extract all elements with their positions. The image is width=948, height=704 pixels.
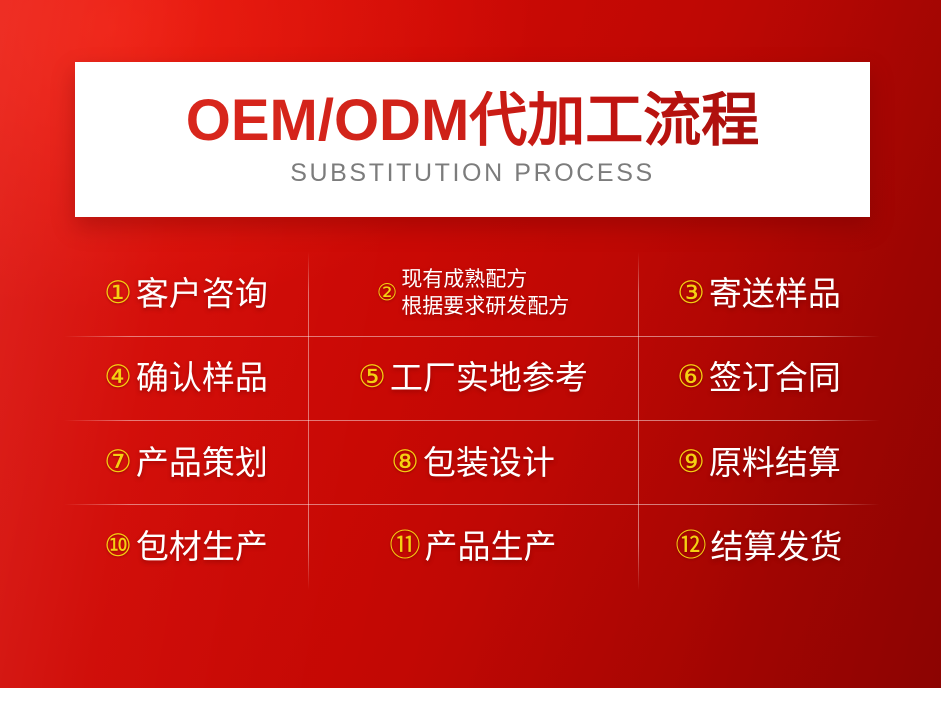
step-label-5: 工厂实地参考 bbox=[390, 361, 588, 396]
step-number-badge-4: ④ bbox=[104, 362, 132, 393]
step-label-9: 原料结算 bbox=[709, 446, 841, 481]
step-number-badge-1: ① bbox=[104, 278, 132, 309]
step-label-10: 包材生产 bbox=[136, 530, 268, 565]
step-number-badge-2: ② bbox=[377, 282, 398, 305]
step-number-badge-7: ⑦ bbox=[104, 447, 132, 478]
process-step-3: ③ 寄送样品 bbox=[638, 252, 880, 337]
process-step-4: ④ 确认样品 bbox=[64, 337, 308, 422]
promotional-poster: OEM/ODM代加工流程 SUBSTITUTION PROCESS ① 客户咨询… bbox=[0, 0, 948, 704]
step-label-6: 签订合同 bbox=[709, 361, 841, 396]
bottom-white-margin bbox=[0, 688, 948, 704]
process-step-1: ① 客户咨询 bbox=[64, 252, 308, 337]
step-label-1: 客户咨询 bbox=[136, 277, 268, 312]
process-step-12: ⑫ 结算发货 bbox=[638, 506, 880, 591]
step-label-11: 产品生产 bbox=[425, 530, 557, 565]
process-step-10: ⑩ 包材生产 bbox=[64, 506, 308, 591]
step-number-badge-12: ⑫ bbox=[676, 531, 707, 562]
step-label-2-line-1: 现有成熟配方 bbox=[401, 267, 569, 294]
step-number-badge-9: ⑨ bbox=[677, 447, 705, 478]
step-number-badge-11: ⑪ bbox=[390, 531, 421, 562]
process-step-6: ⑥ 签订合同 bbox=[638, 337, 880, 422]
process-step-2: ② 现有成熟配方 根据要求研发配方 bbox=[308, 252, 638, 337]
process-step-11: ⑪ 产品生产 bbox=[308, 506, 638, 591]
step-label-12: 结算发货 bbox=[711, 530, 843, 565]
process-step-5: ⑤ 工厂实地参考 bbox=[308, 337, 638, 422]
process-step-7: ⑦ 产品策划 bbox=[64, 421, 308, 506]
step-label-3: 寄送样品 bbox=[709, 277, 841, 312]
step-number-badge-3: ③ bbox=[677, 278, 705, 309]
step-label-2: 现有成熟配方 根据要求研发配方 bbox=[401, 267, 569, 321]
step-number-badge-6: ⑥ bbox=[677, 362, 705, 393]
process-steps-grid: ① 客户咨询 ② 现有成熟配方 根据要求研发配方 ③ 寄送样品 ④ 确认样品 bbox=[64, 252, 880, 590]
process-step-9: ⑨ 原料结算 bbox=[638, 421, 880, 506]
step-number-badge-8: ⑧ bbox=[391, 447, 419, 478]
title-card: OEM/ODM代加工流程 SUBSTITUTION PROCESS bbox=[75, 62, 870, 217]
process-step-8: ⑧ 包装设计 bbox=[308, 421, 638, 506]
step-label-7: 产品策划 bbox=[136, 446, 268, 481]
page-subtitle: SUBSTITUTION PROCESS bbox=[290, 159, 655, 188]
right-white-margin bbox=[941, 0, 948, 704]
step-number-badge-5: ⑤ bbox=[358, 362, 386, 393]
step-label-4: 确认样品 bbox=[136, 361, 268, 396]
step-number-badge-10: ⑩ bbox=[104, 531, 132, 562]
step-label-8: 包装设计 bbox=[423, 446, 555, 481]
page-title: OEM/ODM代加工流程 bbox=[182, 91, 764, 152]
step-label-2-line-2: 根据要求研发配方 bbox=[401, 294, 569, 321]
